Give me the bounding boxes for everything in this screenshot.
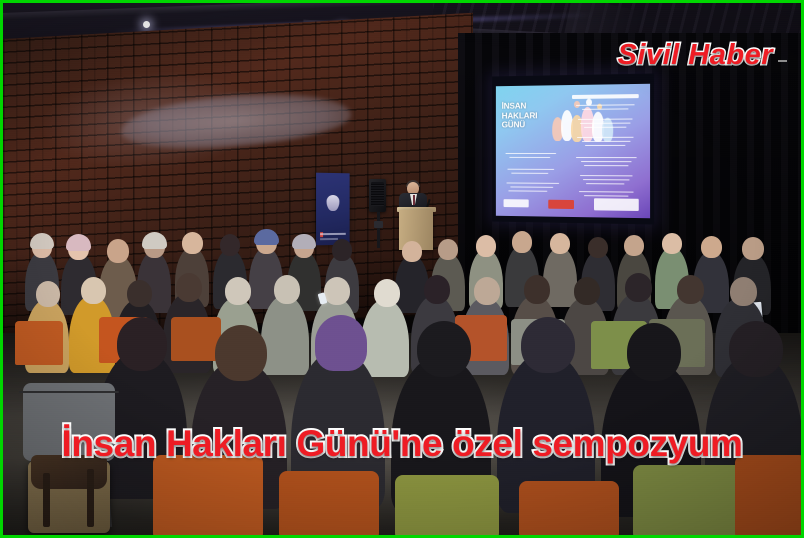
banner-text-line [320,232,346,235]
presenter-tie [413,195,416,205]
audience-head [417,321,471,377]
audience-head [588,237,608,258]
audience-head [424,275,450,304]
chair-foreground [279,471,379,535]
chair [171,317,221,361]
audience-head [182,232,203,254]
audience-head [332,239,352,261]
headline-caption: İnsan Hakları Günü'ne özel sempozyum [3,423,801,465]
audience-head [476,235,496,257]
headscarf-purple [315,315,367,371]
audience-head [729,321,783,377]
audience-head [117,317,167,371]
loudspeaker-grill [371,182,384,206]
audience-head [550,233,570,254]
headscarf [292,234,316,249]
event-roll-up-banner [316,173,350,246]
projection-slide: İNSAN HAKLARI GÜNÜ [496,84,650,219]
audience-head [730,277,757,306]
audience-head [274,275,300,304]
audience-head [402,241,422,262]
audience-head [81,277,106,304]
audience-head [474,277,500,305]
audience-head [220,234,240,256]
audience-head [225,277,251,305]
watermark-dash [778,60,787,62]
photo-frame: İNSAN HAKLARI GÜNÜ [0,0,804,538]
watermark-sivil-haber: Sivil Haber [618,39,773,72]
audience-head [324,277,350,305]
chair-foreground [153,455,263,535]
speaker-stand-clamp [374,221,383,228]
audience-head [521,317,575,373]
speaker-stand-pole [377,212,380,248]
chair-foreground [735,455,801,535]
chair [15,321,63,365]
audience-head [677,275,704,304]
spotlight-icon [143,21,150,28]
audience-head [662,233,682,254]
audience-head [107,239,129,263]
loudspeaker-icon [369,179,386,212]
chair-arm [19,391,119,393]
audience-head [624,235,644,256]
slide-header-bar [572,94,639,99]
backpack-strap [87,469,94,527]
audience-head [127,280,152,307]
audience-head [627,323,681,381]
chair-foreground [519,481,619,535]
audience-head [574,277,600,305]
audience-head [215,325,267,381]
audience-head [625,273,652,302]
slide-sponsor-logos [504,197,643,213]
audience-head [701,236,722,258]
audience-head [438,239,458,260]
audience-head [742,237,764,260]
institution-crest-icon [327,195,340,211]
audience-head [512,231,532,253]
audience-head [36,281,60,307]
backpack-strap [43,473,50,527]
banner-text-line [320,238,338,240]
chair-foreground [395,475,499,535]
audience-head [374,279,400,307]
audience-head [524,275,550,304]
chair-foreground [633,465,743,535]
audience-head [176,273,202,302]
